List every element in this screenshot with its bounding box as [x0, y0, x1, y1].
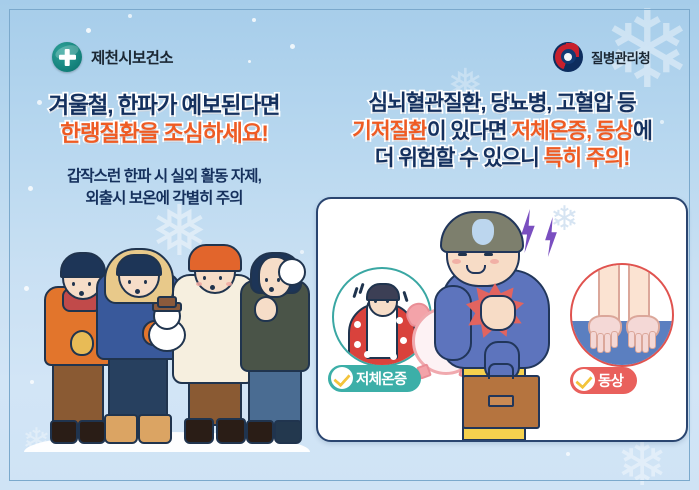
person-mouth — [135, 289, 140, 294]
person-eye — [88, 282, 91, 286]
briefcase-handle — [488, 363, 514, 379]
person-mouth — [210, 285, 215, 290]
logo-left-label: 제천시보건소 — [91, 46, 173, 68]
person-boot — [50, 420, 78, 444]
person-boot — [246, 420, 274, 444]
man-arm — [434, 285, 472, 361]
badge-frostbite-label: 동상 — [598, 370, 623, 391]
man-cheek — [490, 259, 499, 264]
snowman-hat-top — [157, 296, 177, 308]
logo-kdca: 질병관리청 — [553, 42, 650, 72]
man-clutching-chest: ❄ — [428, 213, 588, 437]
person-mouth — [79, 291, 84, 296]
finger — [649, 331, 656, 349]
blanket-dot — [354, 321, 361, 328]
left-headline-line-2: 한랭질환을 조심하세요! — [14, 120, 314, 148]
briefcase-latch — [488, 395, 514, 407]
korean-government-taeguk-emblem-icon — [553, 42, 583, 72]
right-headline: 심뇌혈관질환, 당뇨병, 고혈압 등 기저질환이 있다면 저체온증, 동상에 더… — [316, 90, 688, 173]
person-eye — [203, 276, 206, 280]
blanket-dot — [364, 351, 371, 358]
man-eye — [484, 253, 493, 256]
left-subtext: 갑작스런 한파 시 실외 활동 자제, 외출시 보온에 각별히 주의 — [14, 166, 314, 210]
blanket-dot — [354, 341, 361, 348]
person-eye — [72, 282, 75, 286]
person-beanie — [188, 244, 242, 272]
poster-root: ❄ ❅ ❄ ❅ ❄ 제천시보건소 질병관리청 겨울철, 한파가 예보된다면 — [0, 0, 699, 490]
person-mouth — [269, 287, 274, 292]
earmuff-icon — [278, 258, 306, 286]
right-headline-line-2: 기저질환이 있다면 저체온증, 동상에 — [316, 118, 688, 146]
logo-right-label: 질병관리청 — [591, 47, 650, 67]
person-eye — [144, 280, 147, 284]
left-subtext-line-2: 외출시 보온에 각별히 주의 — [14, 188, 314, 210]
person-boot — [274, 420, 302, 444]
left-subtext-line-1: 갑작스런 한파 시 실외 활동 자제, — [14, 166, 314, 188]
check-icon — [331, 367, 353, 389]
person-hand — [254, 296, 278, 322]
man-cheek — [452, 259, 461, 264]
person-eye — [128, 280, 131, 284]
person-cheek — [196, 282, 202, 286]
person-hand — [70, 330, 94, 356]
person-boot — [138, 414, 172, 444]
cold-illness-illustration-panel: 저체온증 동상 — [316, 197, 688, 442]
finger — [611, 331, 618, 348]
blanket-dot — [390, 353, 397, 360]
shivering-person-hair — [366, 283, 400, 301]
logo-jecheon-health-center: 제천시보건소 — [52, 42, 173, 72]
person-boot — [184, 418, 214, 444]
finger — [590, 331, 597, 349]
person-cheek — [226, 282, 232, 286]
family-illustration — [24, 228, 310, 460]
check-icon — [573, 369, 595, 391]
right-headline-line-3: 더 위험할 수 있으니 특히 주의! — [316, 145, 688, 173]
health-center-cross-emblem-icon — [52, 42, 82, 72]
badge-hypothermia-label: 저체온증 — [356, 368, 407, 389]
badge-hypothermia[interactable]: 저체온증 — [328, 365, 421, 392]
person-olive-coat — [238, 238, 310, 444]
person-hair — [116, 254, 162, 276]
finger — [635, 333, 642, 353]
snow-dot — [566, 452, 570, 456]
snowflake-icon: ❄ — [616, 434, 668, 490]
finger — [597, 333, 604, 353]
finger — [604, 333, 611, 353]
badge-frostbite[interactable]: 동상 — [570, 367, 637, 394]
shiver-mark — [358, 283, 364, 294]
left-headline-line-1: 겨울철, 한파가 예보된다면 — [14, 92, 314, 120]
man-hair-highlight — [472, 219, 494, 245]
blanket-dot — [396, 317, 403, 324]
finger — [628, 331, 635, 348]
person-eye — [219, 276, 222, 280]
snowman-doll — [146, 300, 184, 352]
poster-header: 제천시보건소 질병관리청 — [0, 16, 699, 74]
finger — [642, 333, 649, 353]
man-hand-on-chest — [480, 295, 516, 331]
shivering-person-eye — [386, 299, 389, 303]
right-headline-line-1: 심뇌혈관질환, 당뇨병, 고혈압 등 — [316, 90, 688, 118]
shivering-person-eye — [374, 299, 377, 303]
man-eye — [458, 253, 467, 256]
left-headline: 겨울철, 한파가 예보된다면 한랭질환을 조심하세요! — [14, 92, 314, 149]
person-eye — [265, 278, 268, 282]
person-boot — [104, 414, 138, 444]
